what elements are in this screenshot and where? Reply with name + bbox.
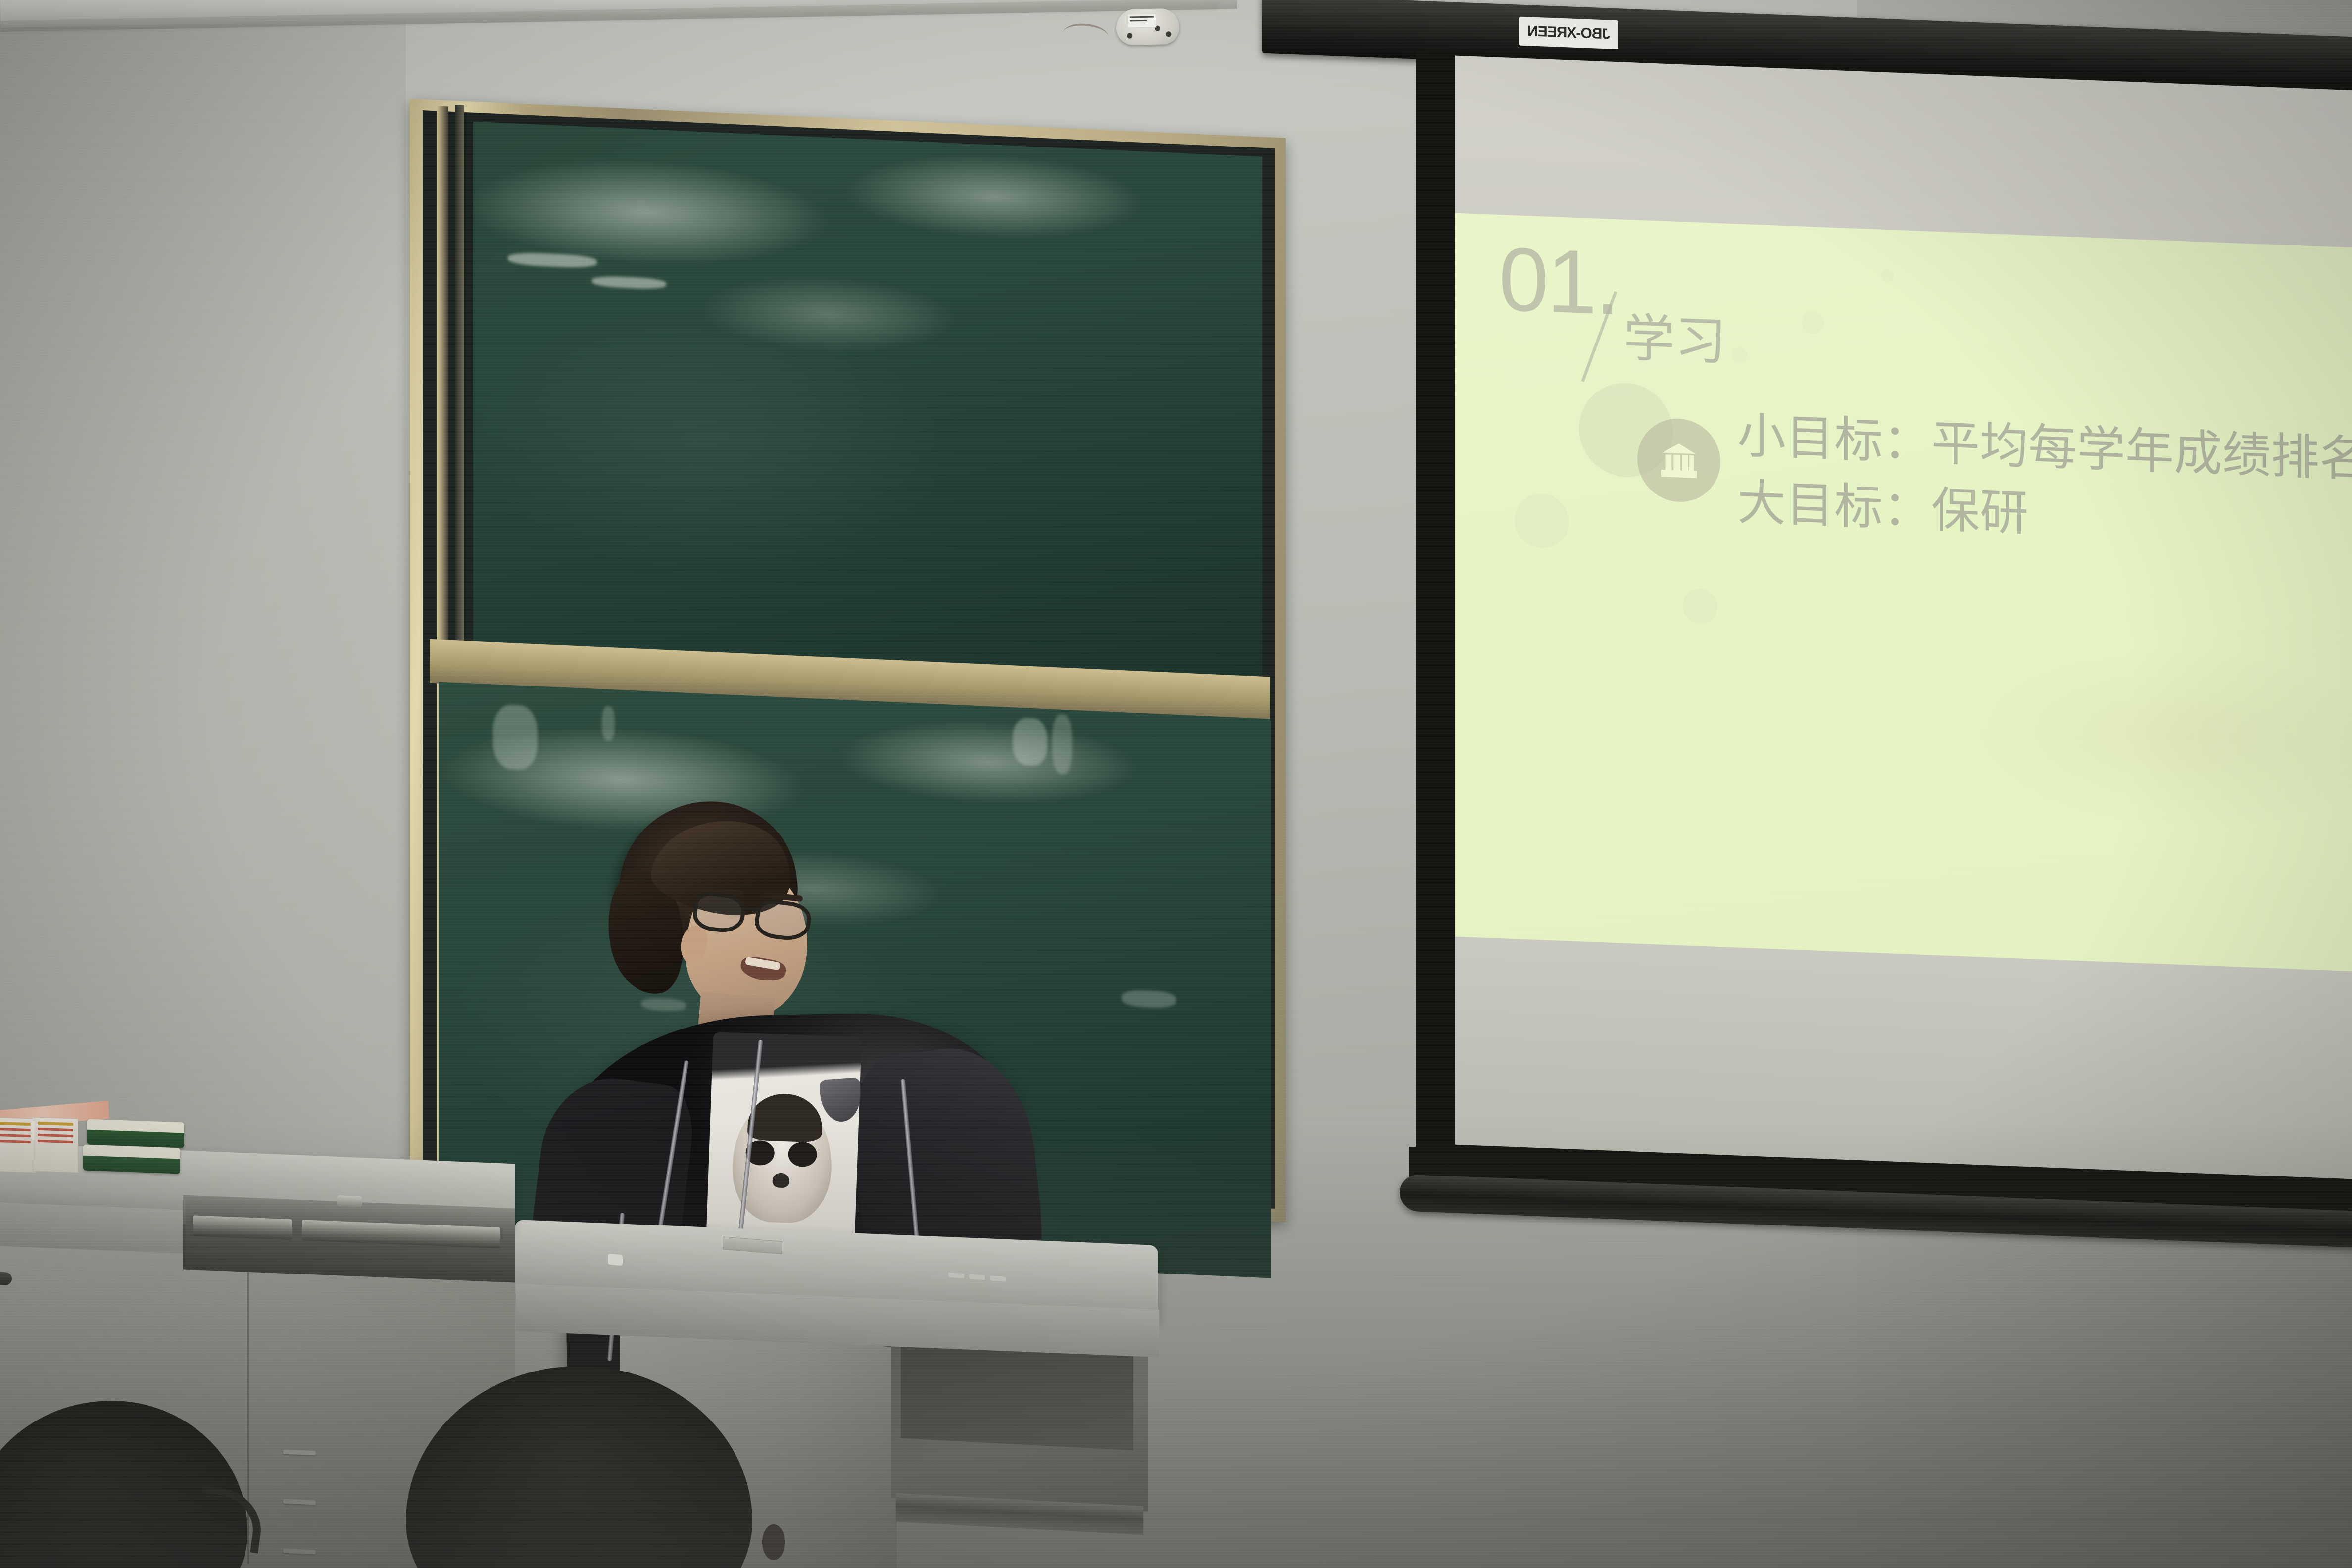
screen-brand-label: JBO-XREEN	[1519, 17, 1618, 49]
screen-black-border-left	[1416, 50, 1459, 1200]
slide-body-text: 小目标：平均每学年成绩排名前18% 大目标：保研	[1737, 402, 2352, 566]
bank-building-icon	[1637, 417, 1720, 503]
smoke-detector-label	[1127, 13, 1156, 28]
slide-section-title: 学习	[1623, 313, 1726, 368]
projector-screen: JBO-XREEN 01. 学习	[1267, 0, 2352, 1265]
floor-shadow	[0, 1123, 2352, 1568]
screen-brand-text: JBO-XREEN	[1528, 23, 1610, 43]
slide-section-number: 01.	[1499, 234, 1618, 328]
screen-surface: 01. 学习 小目标：平均每学年成绩排名前18% 大目标：保研	[1455, 56, 2352, 1180]
wall-shading-left	[0, 0, 406, 1213]
presentation-slide: 01. 学习 小目标：平均每学年成绩排名前18% 大目标：保研	[1455, 213, 2352, 977]
blackboard-upper-panel	[473, 122, 1262, 677]
classroom-photo: JBO-XREEN 01. 学习	[0, 0, 2352, 1568]
